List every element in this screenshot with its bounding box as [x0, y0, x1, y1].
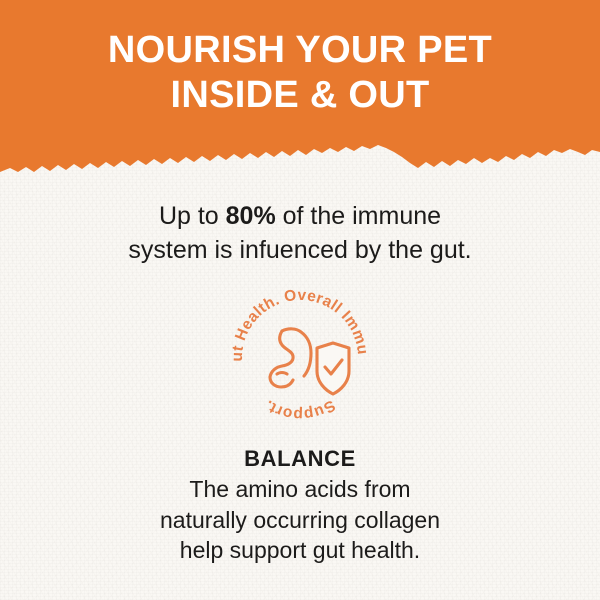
banner-torn-shape [0, 0, 600, 180]
balance-section: BALANCE The amino acids from naturally o… [0, 446, 600, 566]
balance-body-line-1: The amino acids from [0, 474, 600, 505]
balance-body-line-3: help support gut health. [0, 535, 600, 566]
immune-statement-line-1: Up to 80% of the immune [0, 200, 600, 234]
badge-ring-text-bottom: Support. [261, 396, 338, 423]
orange-banner [0, 0, 600, 180]
balance-body-line-2: naturally occurring collagen [0, 505, 600, 536]
immune-statement: Up to 80% of the immune system is infuen… [0, 200, 600, 267]
shield-check-icon [317, 343, 349, 394]
gut-health-seal-badge: Gut Health. Overall Immune Support. [230, 288, 370, 428]
infographic-canvas: NOURISH YOUR PET INSIDE & OUT Up to 80% … [0, 0, 600, 600]
balance-title: BALANCE [0, 446, 600, 471]
badge-ring-text-bottom-group: Support. [261, 396, 338, 423]
immune-statement-line-2: system is infuenced by the gut. [0, 234, 600, 268]
immune-statement-suffix: of the immune [276, 202, 441, 230]
balance-body: The amino acids from naturally occurring… [0, 474, 600, 566]
immune-statement-prefix: Up to [159, 202, 226, 230]
stomach-icon [270, 329, 311, 387]
immune-statement-highlight: 80% [226, 202, 276, 230]
